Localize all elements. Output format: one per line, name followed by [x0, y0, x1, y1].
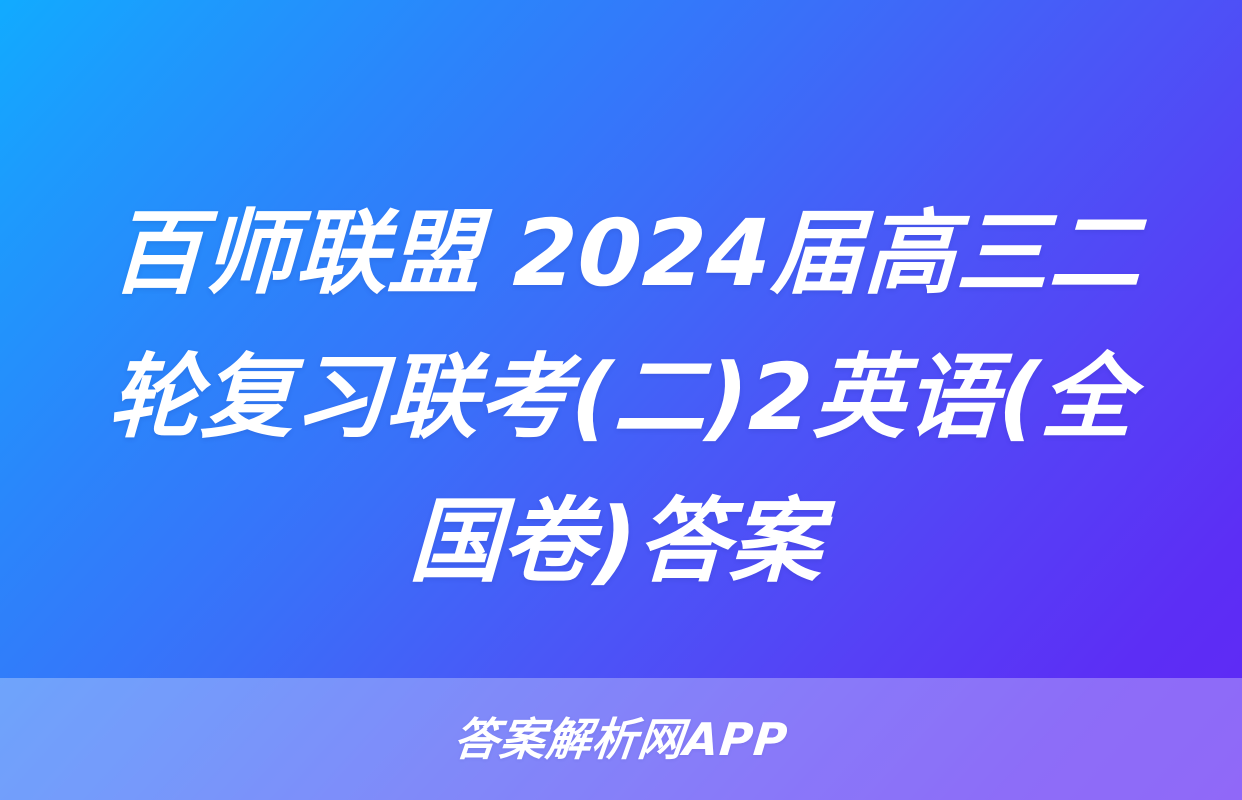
banner-title-block: 百师联盟 2024届高三二轮复习联考(二)2英语(全国卷)答案 [75, 182, 1167, 614]
watermark-label: 答案解析网APP [452, 717, 791, 762]
watermark-band: 答案解析网APP [0, 678, 1242, 800]
page-title: 百师联盟 2024届高三二轮复习联考(二)2英语(全国卷)答案 [67, 182, 1174, 614]
answer-banner-card: 百师联盟 2024届高三二轮复习联考(二)2英语(全国卷)答案 答案解析网APP [0, 0, 1242, 800]
